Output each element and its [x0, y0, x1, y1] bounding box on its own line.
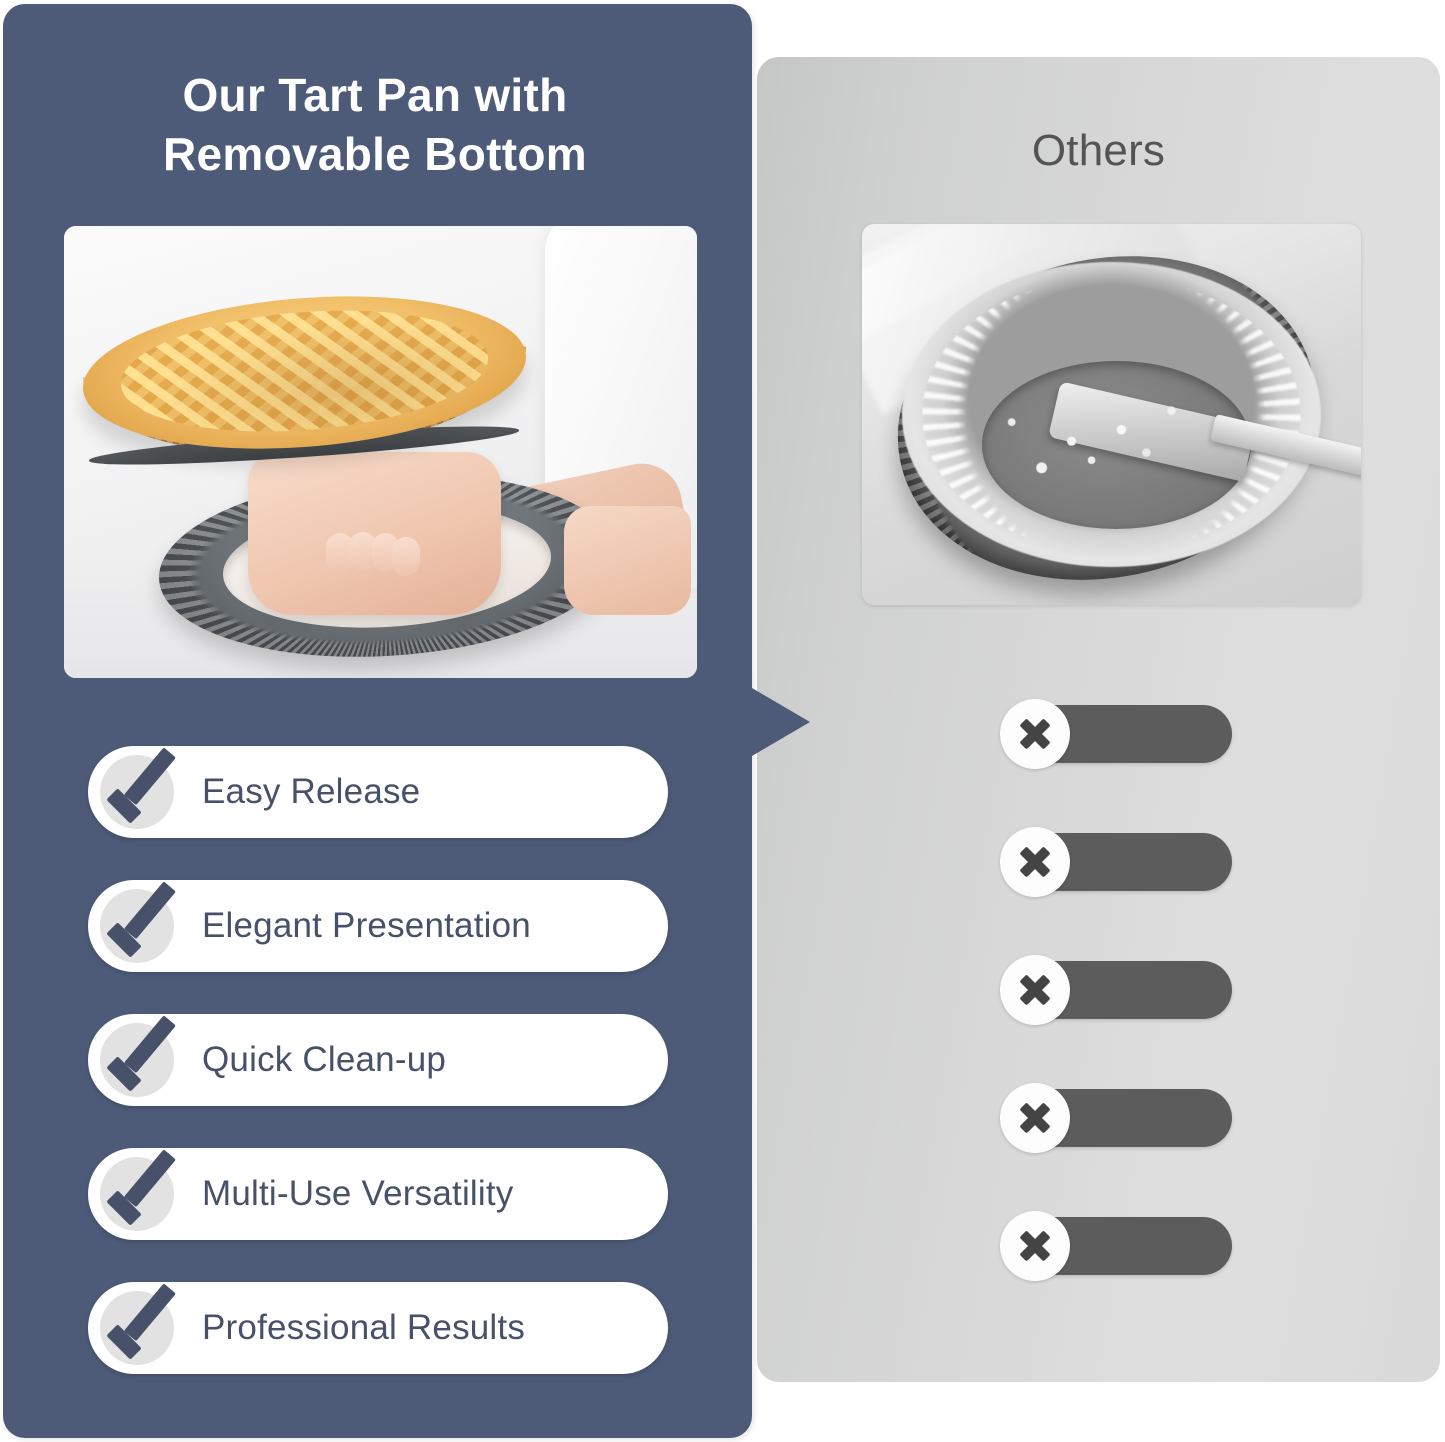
loose-crumbs [862, 224, 1361, 605]
list-item [1000, 1217, 1240, 1275]
cross-icon [1000, 1211, 1070, 1281]
list-item: Easy Release [88, 746, 668, 838]
cross-icon [1000, 699, 1070, 769]
list-item: Quick Clean-up [88, 1014, 668, 1106]
feature-label: Professional Results [202, 1282, 525, 1374]
feature-label: Elegant Presentation [202, 880, 531, 972]
cross-badge [1000, 827, 1070, 897]
check-icon [94, 1008, 190, 1104]
cross-badge [1000, 1083, 1070, 1153]
cross-badge [1000, 699, 1070, 769]
page-title: Our Tart Pan with Removable Bottom [70, 66, 680, 184]
list-item: Multi-Use Versatility [88, 1148, 668, 1240]
list-item: Elegant Presentation [88, 880, 668, 972]
feature-label: Quick Clean-up [202, 1014, 446, 1106]
tart-pan-removable-bottom-photo [64, 226, 697, 678]
check-icon [94, 740, 190, 836]
cross-badge [1000, 1211, 1070, 1281]
list-item [1000, 705, 1240, 763]
list-item: Professional Results [88, 1282, 668, 1374]
others-title: Others [757, 126, 1440, 176]
check-icon [94, 1142, 190, 1238]
cross-icon [1000, 827, 1070, 897]
check-icon [94, 874, 190, 970]
list-item [1000, 961, 1240, 1019]
others-drawback-list [1000, 705, 1240, 1345]
cross-icon [1000, 1083, 1070, 1153]
cross-badge [1000, 955, 1070, 1025]
feature-label: Multi-Use Versatility [202, 1148, 514, 1240]
finger [392, 537, 420, 576]
list-item [1000, 833, 1240, 891]
cross-icon [1000, 955, 1070, 1025]
list-item [1000, 1089, 1240, 1147]
arrow-right-icon [752, 688, 810, 756]
feature-label: Easy Release [202, 746, 420, 838]
stuck-crust-tart-pan-photo [862, 224, 1361, 605]
our-feature-list: Easy Release Elegant Presentation Quick … [88, 746, 668, 1416]
check-icon [94, 1276, 190, 1372]
supporting-hand [248, 452, 501, 615]
gripping-hand [564, 506, 691, 614]
